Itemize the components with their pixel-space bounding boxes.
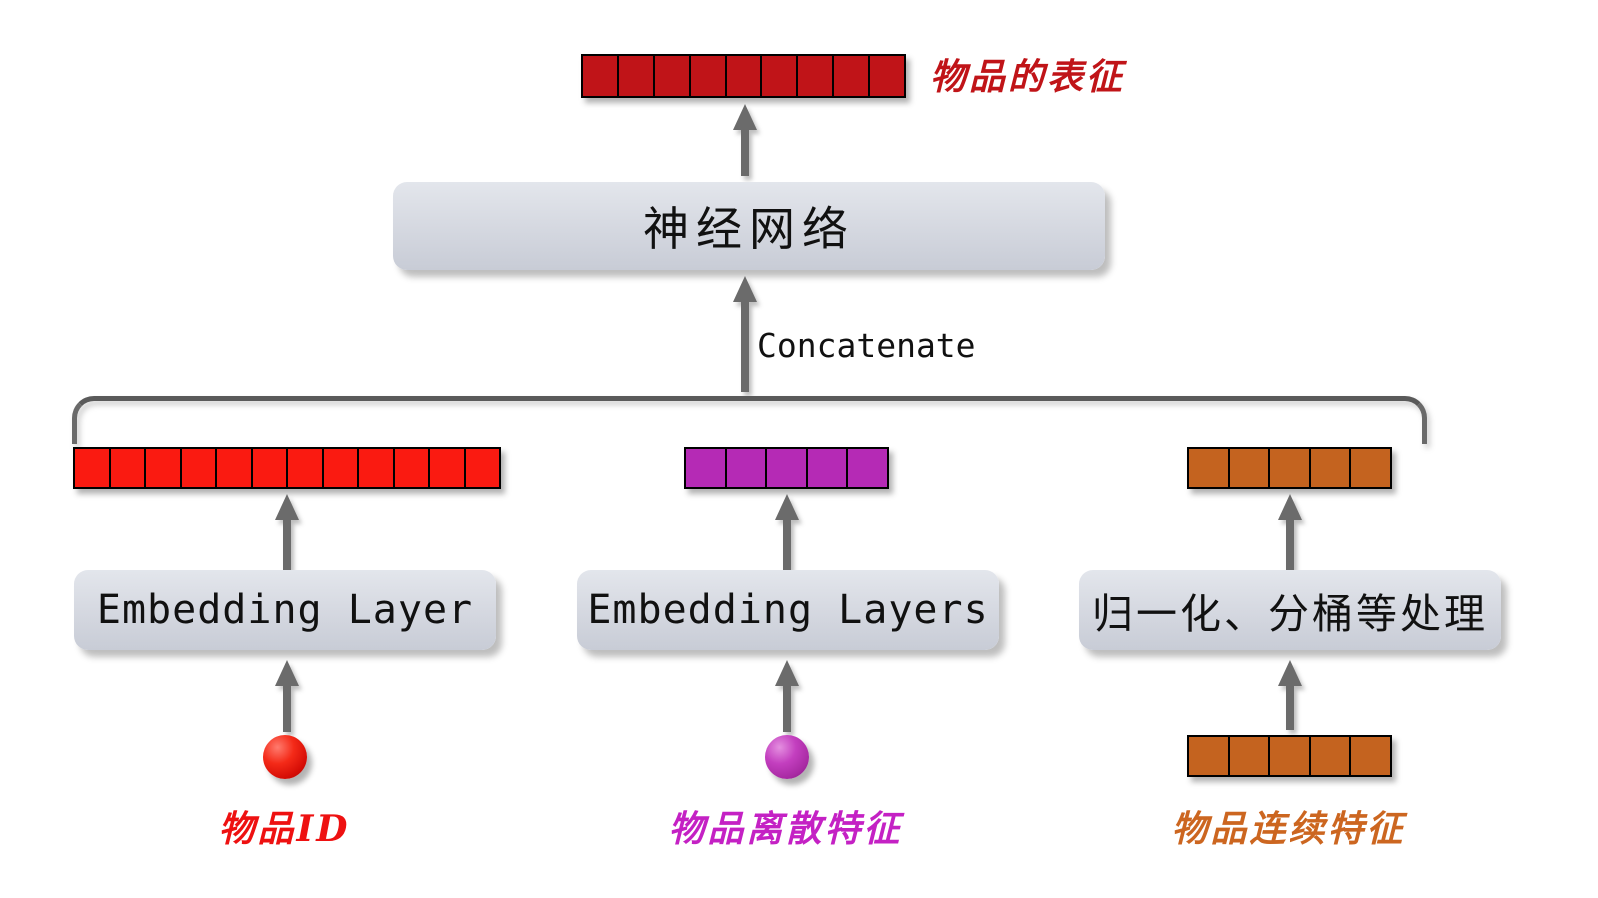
arrow-embedding-to-vector-discrete	[766, 494, 808, 570]
vector-cell	[217, 449, 253, 487]
output-vector-label: 物品的表征	[930, 48, 1150, 100]
continuous-feature-input-vector	[1187, 735, 1392, 777]
vector-cell	[75, 449, 111, 487]
item-id-input-node	[263, 735, 307, 779]
vector-cell	[686, 449, 727, 487]
diagram-canvas: 物品的表征 神经网络 Concatenate Embedding Layer 物…	[0, 0, 1598, 898]
concatenate-label: Concatenate	[757, 326, 976, 365]
vector-cell	[1270, 737, 1311, 775]
vector-cell	[762, 56, 798, 96]
arrow-input-to-embedding-discrete	[766, 660, 808, 732]
vector-cell	[619, 56, 655, 96]
vector-cell	[1311, 449, 1352, 487]
vector-cell	[359, 449, 395, 487]
vector-cell	[691, 56, 727, 96]
vector-cell	[1189, 449, 1230, 487]
vector-cell	[111, 449, 147, 487]
vector-cell	[182, 449, 218, 487]
vector-cell	[727, 56, 763, 96]
arrow-process-to-vector-continuous	[1269, 494, 1311, 570]
vector-cell	[1351, 449, 1390, 487]
discrete-feature-embedding-vector	[684, 447, 889, 489]
vector-cell	[583, 56, 619, 96]
vector-cell	[808, 449, 849, 487]
vector-cell	[253, 449, 289, 487]
vector-cell	[146, 449, 182, 487]
vector-cell	[1189, 737, 1230, 775]
normalization-bucketing-label: 归一化、分桶等处理	[1092, 580, 1488, 640]
vector-cell	[655, 56, 691, 96]
concat-bracket	[72, 396, 1427, 444]
arrow-input-to-embedding-item-id	[266, 660, 308, 732]
item-id-caption: 物品ID	[147, 800, 422, 852]
neural-network-box[interactable]: 神经网络	[393, 182, 1105, 270]
vector-cell	[870, 56, 904, 96]
vector-cell	[798, 56, 834, 96]
discrete-feature-caption: 物品离散特征	[648, 800, 923, 852]
neural-network-label: 神经网络	[643, 193, 855, 259]
vector-cell	[834, 56, 870, 96]
vector-cell	[767, 449, 808, 487]
embedding-layers-box-discrete[interactable]: Embedding Layers	[577, 570, 999, 650]
item-id-embedding-vector	[73, 447, 501, 489]
continuous-feature-processed-vector	[1187, 447, 1392, 489]
vector-cell	[1270, 449, 1311, 487]
normalization-bucketing-box[interactable]: 归一化、分桶等处理	[1079, 570, 1501, 650]
discrete-feature-input-node	[765, 735, 809, 779]
arrow-embedding-to-vector-item-id	[266, 494, 308, 570]
vector-cell	[395, 449, 431, 487]
embedding-layer-box-item-id[interactable]: Embedding Layer	[74, 570, 496, 650]
vector-cell	[1230, 737, 1271, 775]
arrow-network-to-output	[724, 104, 766, 176]
output-vector-bar	[581, 54, 906, 98]
vector-cell	[1311, 737, 1352, 775]
embedding-layer-label-item-id: Embedding Layer	[97, 587, 473, 633]
continuous-feature-caption: 物品连续特征	[1151, 800, 1426, 852]
vector-cell	[727, 449, 768, 487]
arrow-input-to-process-continuous	[1269, 660, 1311, 730]
vector-cell	[1230, 449, 1271, 487]
vector-cell	[288, 449, 324, 487]
vector-cell	[324, 449, 360, 487]
vector-cell	[848, 449, 887, 487]
vector-cell	[466, 449, 500, 487]
vector-cell	[1351, 737, 1390, 775]
embedding-layers-label-discrete: Embedding Layers	[587, 587, 988, 633]
vector-cell	[430, 449, 466, 487]
